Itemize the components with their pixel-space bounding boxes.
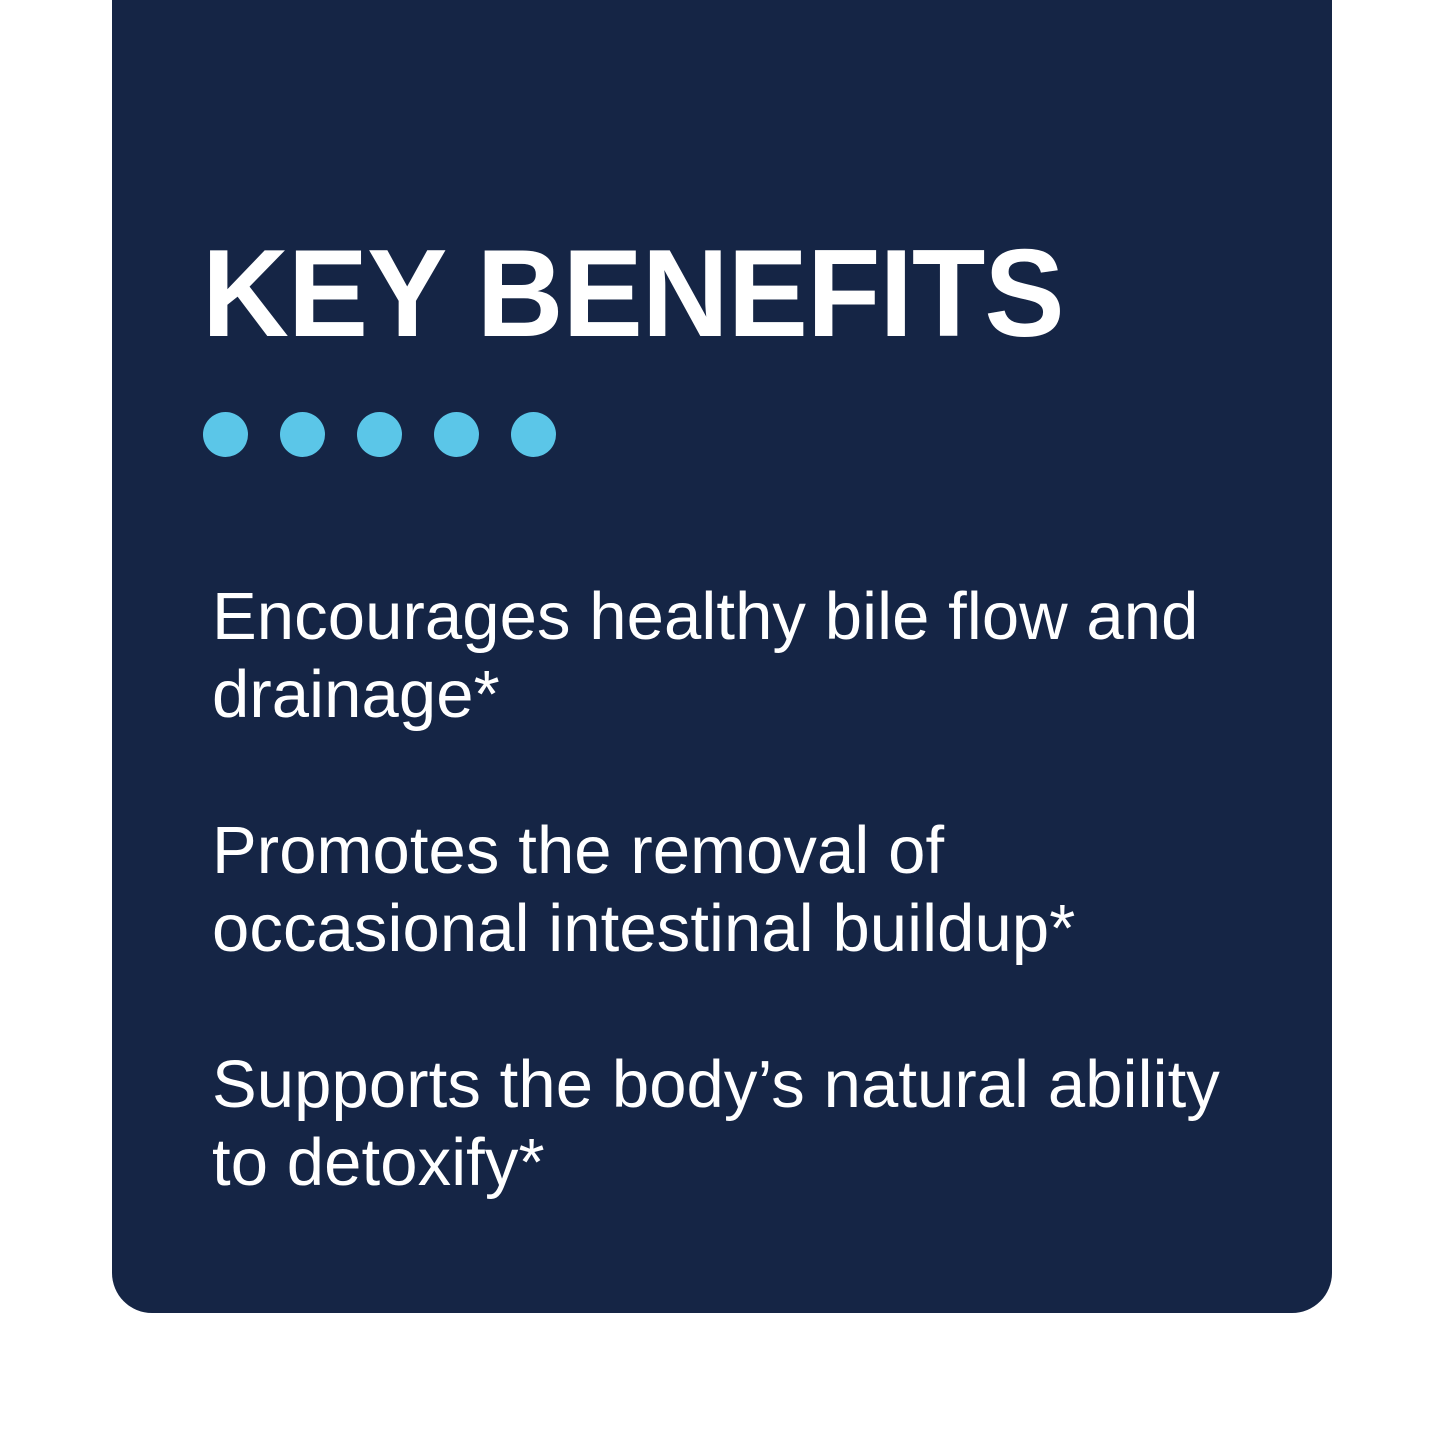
dot-icon (357, 412, 402, 457)
benefit-list: Encourages healthy bile flow and drainag… (212, 578, 1272, 1202)
page-root: KEY BENEFITS Encourages healthy bile flo… (0, 0, 1445, 1445)
dot-icon (434, 412, 479, 457)
key-benefits-card: KEY BENEFITS Encourages healthy bile flo… (112, 0, 1332, 1313)
page-title: KEY BENEFITS (202, 232, 1064, 356)
list-item: Encourages healthy bile flow and drainag… (212, 578, 1272, 735)
dot-icon (203, 412, 248, 457)
list-item: Promotes the removal of occasional intes… (212, 812, 1272, 969)
dot-icon (280, 412, 325, 457)
list-item: Supports the body’s natural ability to d… (212, 1046, 1272, 1203)
dot-icon (511, 412, 556, 457)
decorative-dot-row (203, 412, 556, 457)
